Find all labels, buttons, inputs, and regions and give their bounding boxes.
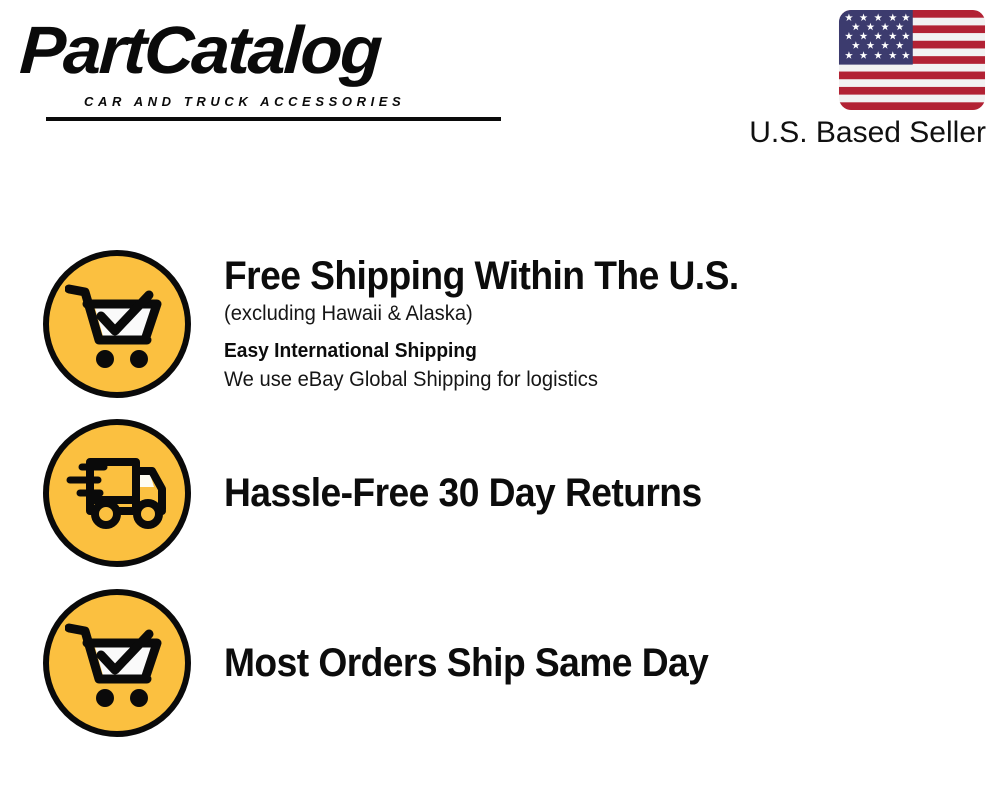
feature-sub-heading: Easy International Shipping — [224, 338, 950, 365]
feature-row: Hassle-Free 30 Day Returns — [0, 408, 1000, 578]
feature-sub-note: We use eBay Global Shipping for logistic… — [224, 365, 950, 394]
us-based-seller-badge: U.S. Based Seller — [726, 10, 986, 150]
feature-title: Hassle-Free 30 Day Returns — [224, 470, 927, 516]
brand-tagline: CAR AND TRUCK ACCESSORIES — [84, 94, 405, 109]
brand-underline-rule — [46, 117, 501, 121]
feature-row: Free Shipping Within The U.S. (excluding… — [0, 236, 1000, 411]
brand-wordmark: PartCatalog — [18, 12, 382, 90]
us-based-seller-label: U.S. Based Seller — [726, 116, 986, 150]
page-header: PartCatalog CAR AND TRUCK ACCESSORIES — [0, 0, 1000, 170]
feature-text-block: Hassle-Free 30 Day Returns — [224, 470, 1000, 516]
feature-text-block: Free Shipping Within The U.S. (excluding… — [224, 253, 1000, 394]
shopping-cart-check-icon — [43, 250, 191, 398]
shopping-cart-check-icon — [43, 589, 191, 737]
feature-title: Most Orders Ship Same Day — [224, 640, 927, 686]
brand-logo: PartCatalog CAR AND TRUCK ACCESSORIES — [22, 14, 492, 114]
feature-row: Most Orders Ship Same Day — [0, 578, 1000, 748]
us-flag-icon — [838, 10, 986, 110]
feature-text-block: Most Orders Ship Same Day — [224, 640, 1000, 686]
feature-subtitle: (excluding Hawaii & Alaska) — [224, 299, 950, 329]
feature-title: Free Shipping Within The U.S. — [224, 253, 927, 299]
delivery-truck-icon — [43, 419, 191, 567]
